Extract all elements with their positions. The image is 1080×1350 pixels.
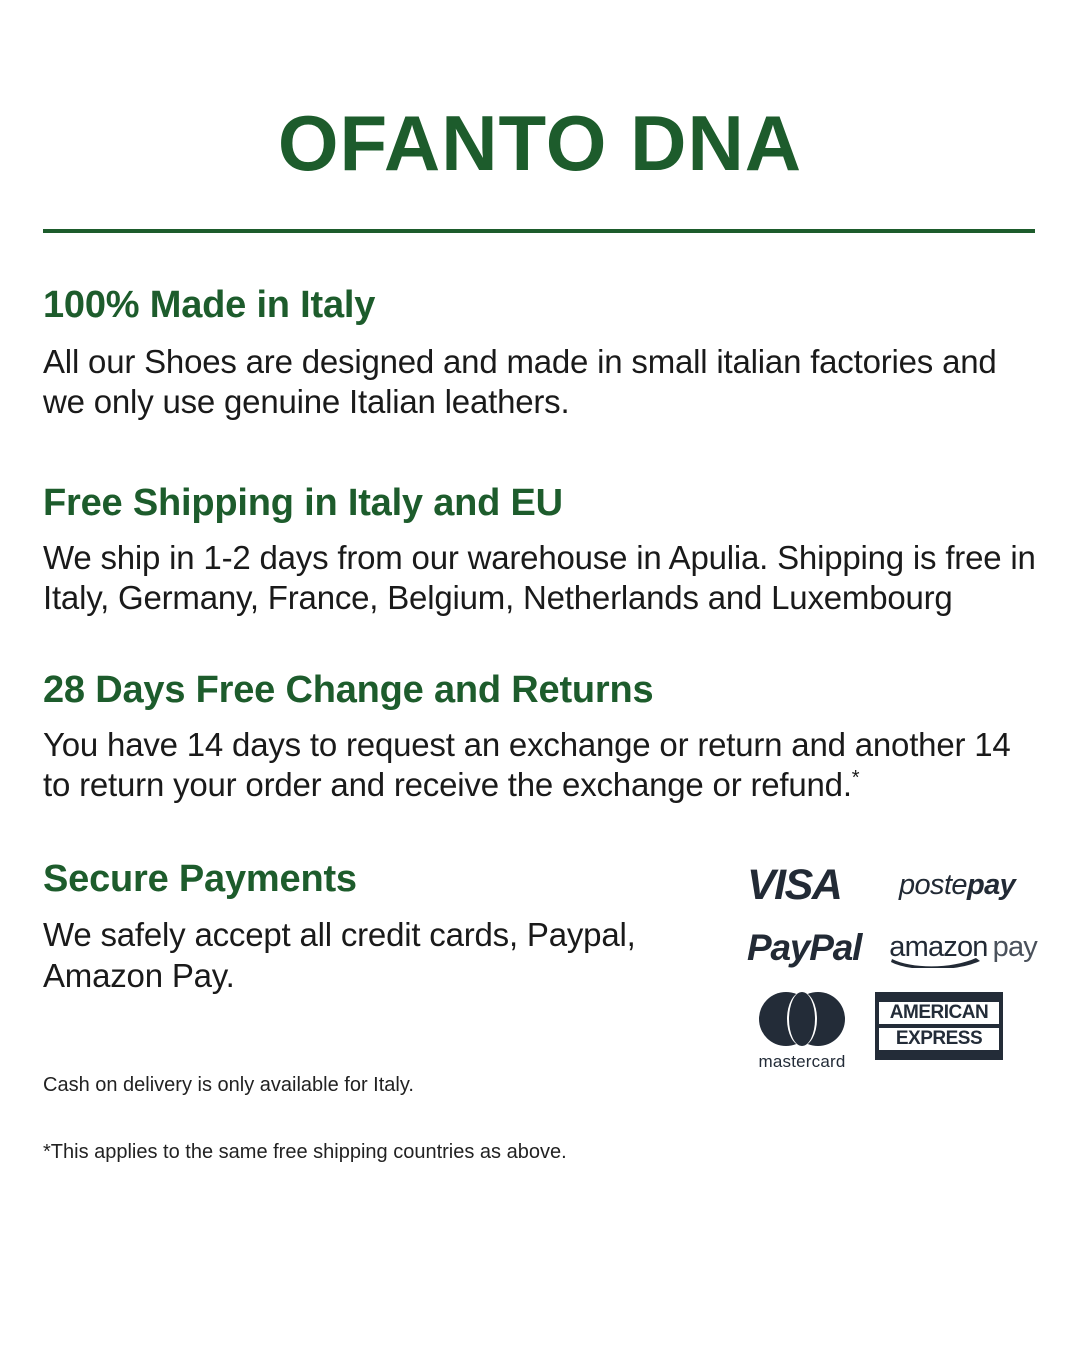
postepay-icon: postepay: [899, 871, 1015, 900]
section-body-secure-payments: We safely accept all credit cards, Paypa…: [43, 915, 673, 996]
mastercard-label: mastercard: [747, 1052, 857, 1072]
payment-logo-row-2: PayPal amazonpay: [747, 929, 1037, 966]
payment-logos: VISA postepay PayPal amazonpay: [747, 858, 1037, 1072]
amazon-smile-icon: [890, 956, 982, 968]
postepay-icon-part1: poste: [899, 869, 967, 901]
amazon-pay-icon-part2: pay: [993, 931, 1037, 963]
mastercard-circles-icon: [759, 992, 845, 1046]
secure-payments-text-block: Secure Payments We safely accept all cre…: [43, 858, 673, 1098]
postepay-icon-part2: pay: [967, 869, 1015, 901]
visa-icon: VISA: [747, 864, 881, 907]
section-heading-change-and-returns: 28 Days Free Change and Returns: [43, 669, 1037, 713]
cash-on-delivery-note: Cash on delivery is only available for I…: [43, 996, 673, 1098]
section-free-shipping: Free Shipping in Italy and EU We ship in…: [43, 482, 1037, 618]
mastercard-overlap: [787, 992, 817, 1046]
section-heading-free-shipping: Free Shipping in Italy and EU: [43, 482, 1037, 526]
paypal-icon: PayPal: [747, 929, 871, 966]
section-made-in-italy: 100% Made in Italy All our Shoes are des…: [43, 284, 1037, 422]
section-secure-payments: Secure Payments We safely accept all cre…: [43, 858, 1037, 1098]
american-express-icon: AMERICAN EXPRESS: [875, 992, 1003, 1060]
section-heading-secure-payments: Secure Payments: [43, 858, 673, 902]
american-express-line2: EXPRESS: [879, 1028, 999, 1050]
section-body-change-and-returns: You have 14 days to request an exchange …: [43, 725, 1037, 806]
page-footnote: *This applies to the same free shipping …: [43, 1139, 1037, 1165]
payment-logo-row-3: mastercard AMERICAN EXPRESS: [747, 992, 1037, 1072]
payment-logo-row-1: VISA postepay: [747, 864, 1037, 907]
section-heading-made-in-italy: 100% Made in Italy: [43, 284, 1037, 328]
section-body-free-shipping: We ship in 1-2 days from our warehouse i…: [43, 538, 1037, 619]
section-change-and-returns: 28 Days Free Change and Returns You have…: [43, 669, 1037, 805]
ofanto-dna-info-panel: OFANTO DNA 100% Made in Italy All our Sh…: [0, 0, 1080, 1350]
mastercard-icon: mastercard: [747, 992, 857, 1072]
american-express-line1: AMERICAN: [879, 1002, 999, 1024]
section-body-made-in-italy: All our Shoes are designed and made in s…: [43, 342, 1037, 423]
footnote-marker: *: [852, 767, 860, 789]
amazon-pay-icon: amazonpay: [889, 933, 1037, 962]
section-body-change-and-returns-text: You have 14 days to request an exchange …: [43, 726, 1011, 803]
title-divider: [43, 229, 1035, 233]
page-title: OFANTO DNA: [43, 0, 1037, 182]
